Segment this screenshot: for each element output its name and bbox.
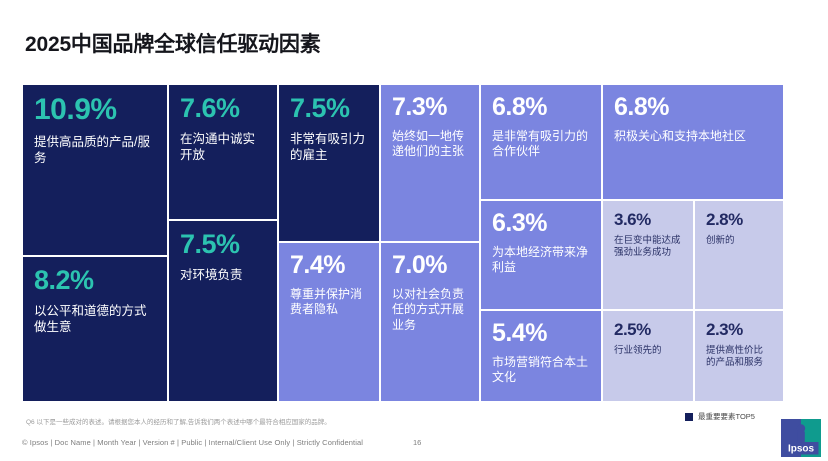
- cell-label: 提供高品质的产品/服务: [34, 134, 156, 166]
- cell-label: 积极关心和支持本地社区: [614, 129, 772, 144]
- page-number: 16: [413, 438, 421, 447]
- treemap-cell[interactable]: 8.2% 以公平和道德的方式做生意: [22, 256, 168, 402]
- cell-label: 在巨变中能达成强劲业务成功: [614, 235, 682, 259]
- cell-label: 提供高性价比的产品和服务: [706, 345, 772, 369]
- ipsos-logo: Ipsos: [781, 419, 821, 457]
- cell-label: 以对社会负责任的方式开展业务: [392, 287, 468, 333]
- treemap-cell[interactable]: 7.0% 以对社会负责任的方式开展业务: [380, 242, 480, 402]
- cell-label: 对环境负责: [180, 267, 266, 283]
- cell-label: 尊重并保护消费者隐私: [290, 287, 368, 318]
- treemap-cell[interactable]: 6.8% 是非常有吸引力的合作伙伴: [480, 84, 602, 200]
- cell-value: 10.9%: [34, 95, 156, 125]
- treemap-cell[interactable]: 3.6% 在巨变中能达成强劲业务成功: [602, 200, 694, 310]
- treemap-cell[interactable]: 7.4% 尊重并保护消费者隐私: [278, 242, 380, 402]
- treemap-cell[interactable]: 7.5% 非常有吸引力的雇主: [278, 84, 380, 242]
- page-title: 2025中国品牌全球信任驱动因素: [25, 28, 321, 58]
- treemap-cell[interactable]: 7.3% 始终如一地传递他们的主张: [380, 84, 480, 242]
- treemap-cell[interactable]: 2.5% 行业领先的: [602, 310, 694, 402]
- cell-value: 6.8%: [614, 95, 772, 120]
- treemap-cell[interactable]: 7.6% 在沟通中诚实开放: [168, 84, 278, 220]
- cell-label: 以公平和道德的方式做生意: [34, 303, 156, 335]
- cell-label: 是非常有吸引力的合作伙伴: [492, 129, 590, 160]
- cell-value: 6.3%: [492, 211, 590, 236]
- cell-value: 2.8%: [706, 211, 772, 228]
- cell-label: 市场营销符合本土文化: [492, 355, 590, 386]
- cell-label: 行业领先的: [614, 345, 682, 357]
- treemap-cell[interactable]: 6.8% 积极关心和支持本地社区: [602, 84, 784, 200]
- ipsos-logo-mark: Ipsos: [781, 419, 821, 457]
- cell-value: 8.2%: [34, 267, 156, 294]
- cell-value: 6.8%: [492, 95, 590, 120]
- treemap-cell[interactable]: 6.3% 为本地经济带来净利益: [480, 200, 602, 310]
- cell-value: 7.3%: [392, 95, 468, 120]
- footer-disclaimer: © Ipsos | Doc Name | Month Year | Versio…: [22, 438, 363, 447]
- cell-value: 5.4%: [492, 321, 590, 346]
- treemap-cell[interactable]: 10.9% 提供高品质的产品/服务: [22, 84, 168, 256]
- treemap-chart: 10.9% 提供高品质的产品/服务 8.2% 以公平和道德的方式做生意 7.6%…: [22, 84, 784, 402]
- treemap-cell[interactable]: 7.5% 对环境负责: [168, 220, 278, 402]
- survey-question-footnote: Q6 以下是一些成对的表述。请根据您本人的经历和了解,告诉我们两个表述中哪个最符…: [26, 419, 331, 427]
- cell-label: 始终如一地传递他们的主张: [392, 129, 468, 160]
- svg-text:Ipsos: Ipsos: [788, 443, 815, 454]
- cell-value: 7.5%: [290, 95, 368, 122]
- treemap-cell[interactable]: 5.4% 市场营销符合本土文化: [480, 310, 602, 402]
- treemap-cell[interactable]: 2.3% 提供高性价比的产品和服务: [694, 310, 784, 402]
- cell-label: 非常有吸引力的雇主: [290, 131, 368, 163]
- cell-value: 2.3%: [706, 321, 772, 338]
- slide-canvas: 2025中国品牌全球信任驱动因素 10.9% 提供高品质的产品/服务 8.2% …: [0, 0, 828, 461]
- chart-legend: 最重要要素TOP5: [685, 411, 755, 422]
- cell-value: 7.5%: [180, 231, 266, 258]
- legend-item-label: 最重要要素TOP5: [698, 411, 755, 422]
- cell-value: 3.6%: [614, 211, 682, 228]
- cell-value: 7.0%: [392, 253, 468, 278]
- square-swatch-icon: [685, 413, 693, 421]
- treemap-cell[interactable]: 2.8% 创新的: [694, 200, 784, 310]
- cell-label: 创新的: [706, 235, 772, 247]
- cell-label: 为本地经济带来净利益: [492, 245, 590, 276]
- cell-label: 在沟通中诚实开放: [180, 131, 266, 163]
- cell-value: 7.6%: [180, 95, 266, 122]
- cell-value: 7.4%: [290, 253, 368, 278]
- cell-value: 2.5%: [614, 321, 682, 338]
